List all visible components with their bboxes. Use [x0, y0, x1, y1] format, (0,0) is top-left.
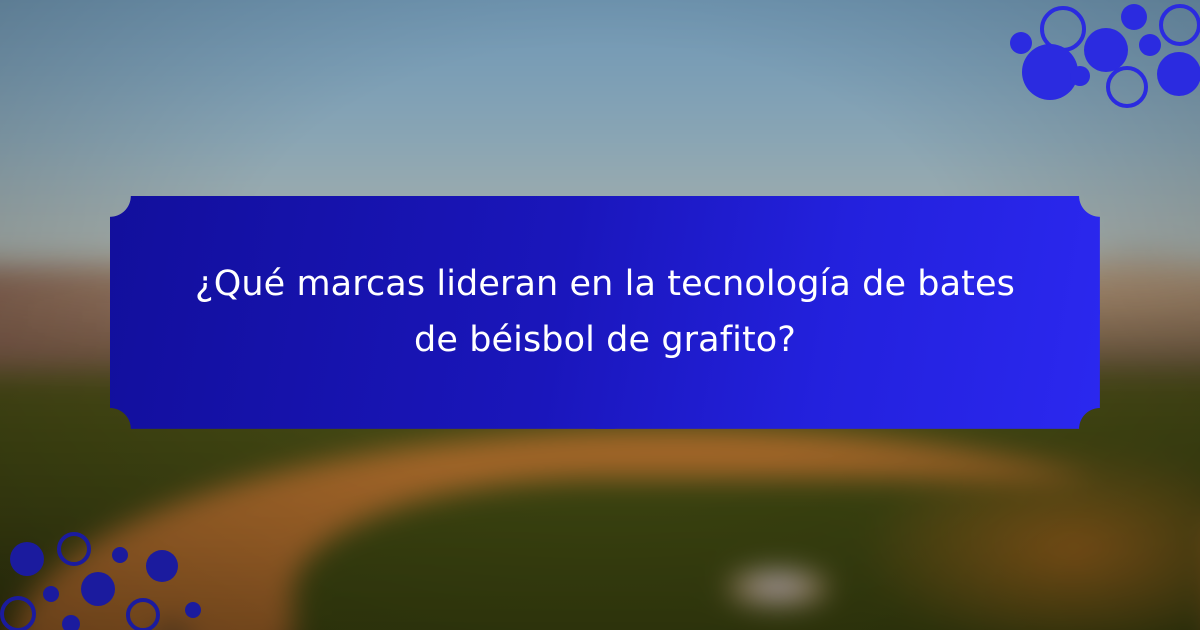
page-title: ¿Qué marcas lideran en la tecnología de …: [110, 196, 1100, 429]
title-banner: ¿Qué marcas lideran en la tecnología de …: [110, 196, 1100, 429]
share-card: ¿Qué marcas lideran en la tecnología de …: [0, 0, 1200, 630]
